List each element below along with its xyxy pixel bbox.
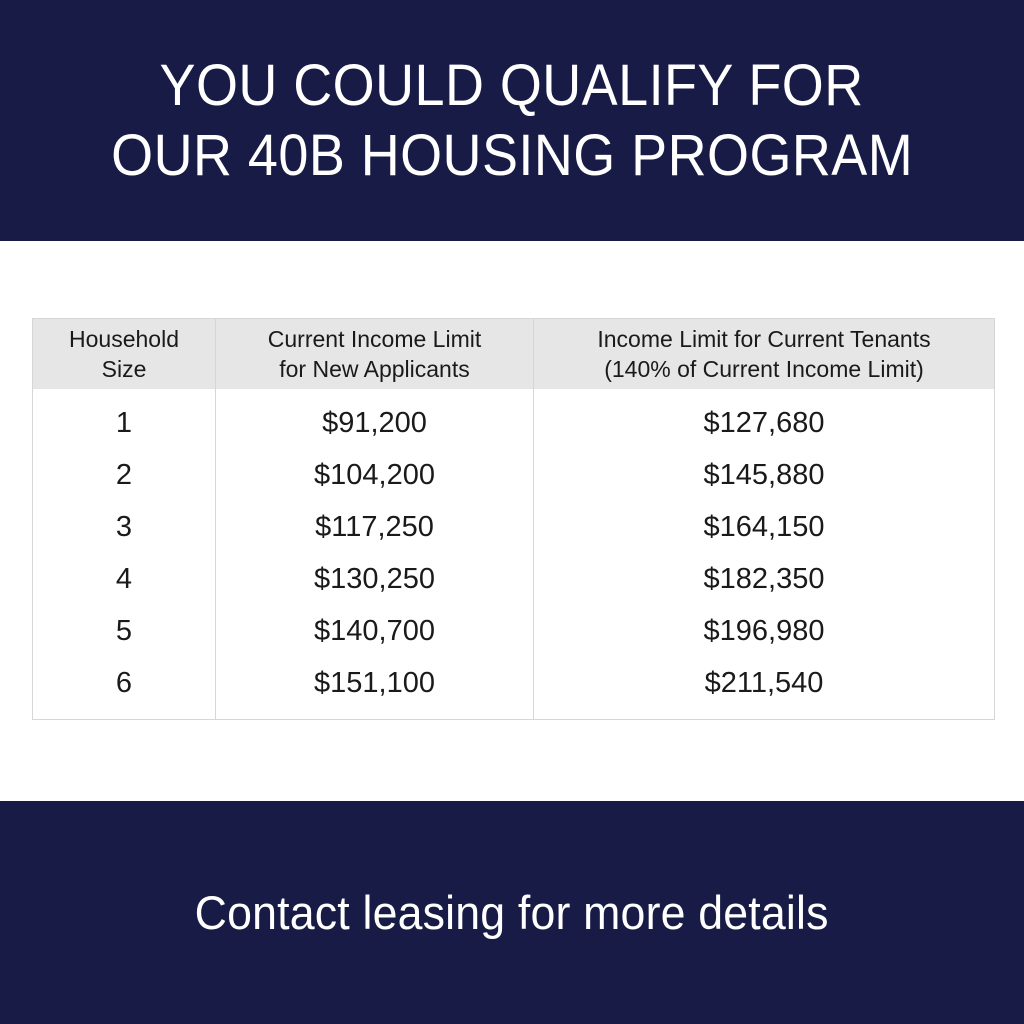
cell-current-tenants: $127,680 bbox=[534, 389, 995, 449]
headline-line-2: OUR 40B HOUSING PROGRAM bbox=[111, 121, 913, 191]
cell-household-size: 1 bbox=[33, 389, 216, 449]
cell-new-applicants: $104,200 bbox=[216, 449, 534, 501]
column-header-current-tenants-line2: (140% of Current Income Limit) bbox=[534, 354, 994, 384]
cell-new-applicants: $130,250 bbox=[216, 553, 534, 605]
column-header-current-tenants-line1: Income Limit for Current Tenants bbox=[534, 324, 994, 354]
cell-new-applicants: $140,700 bbox=[216, 605, 534, 657]
column-header-household-size-line2: Size bbox=[33, 354, 215, 384]
column-header-new-applicants-line1: Current Income Limit bbox=[216, 324, 533, 354]
cell-current-tenants: $196,980 bbox=[534, 605, 995, 657]
bottom-banner: Contact leasing for more details bbox=[0, 801, 1024, 1024]
table-row: 5 $140,700 $196,980 bbox=[33, 605, 995, 657]
cell-current-tenants: $182,350 bbox=[534, 553, 995, 605]
cell-new-applicants: $91,200 bbox=[216, 389, 534, 449]
column-header-current-tenants: Income Limit for Current Tenants (140% o… bbox=[534, 319, 995, 390]
table-row: 4 $130,250 $182,350 bbox=[33, 553, 995, 605]
table-row: 6 $151,100 $211,540 bbox=[33, 657, 995, 720]
cell-current-tenants: $145,880 bbox=[534, 449, 995, 501]
table-header: Household Size Current Income Limit for … bbox=[33, 319, 995, 390]
column-header-household-size-line1: Household bbox=[33, 324, 215, 354]
table-header-row: Household Size Current Income Limit for … bbox=[33, 319, 995, 390]
top-banner: YOU COULD QUALIFY FOR OUR 40B HOUSING PR… bbox=[0, 0, 1024, 241]
column-header-household-size: Household Size bbox=[33, 319, 216, 390]
cta-text: Contact leasing for more details bbox=[195, 885, 829, 940]
cell-new-applicants: $151,100 bbox=[216, 657, 534, 720]
cell-household-size: 4 bbox=[33, 553, 216, 605]
cell-household-size: 3 bbox=[33, 501, 216, 553]
cell-household-size: 6 bbox=[33, 657, 216, 720]
table-row: 3 $117,250 $164,150 bbox=[33, 501, 995, 553]
cell-new-applicants: $117,250 bbox=[216, 501, 534, 553]
column-header-new-applicants-line2: for New Applicants bbox=[216, 354, 533, 384]
cell-current-tenants: $164,150 bbox=[534, 501, 995, 553]
cell-household-size: 2 bbox=[33, 449, 216, 501]
income-limits-table: Household Size Current Income Limit for … bbox=[32, 318, 995, 720]
cell-current-tenants: $211,540 bbox=[534, 657, 995, 720]
table-row: 2 $104,200 $145,880 bbox=[33, 449, 995, 501]
table-row: 1 $91,200 $127,680 bbox=[33, 389, 995, 449]
cell-household-size: 5 bbox=[33, 605, 216, 657]
table-body: 1 $91,200 $127,680 2 $104,200 $145,880 3… bbox=[33, 389, 995, 720]
content-area: Household Size Current Income Limit for … bbox=[0, 241, 1024, 801]
column-header-new-applicants: Current Income Limit for New Applicants bbox=[216, 319, 534, 390]
headline-line-1: YOU COULD QUALIFY FOR bbox=[160, 51, 864, 121]
